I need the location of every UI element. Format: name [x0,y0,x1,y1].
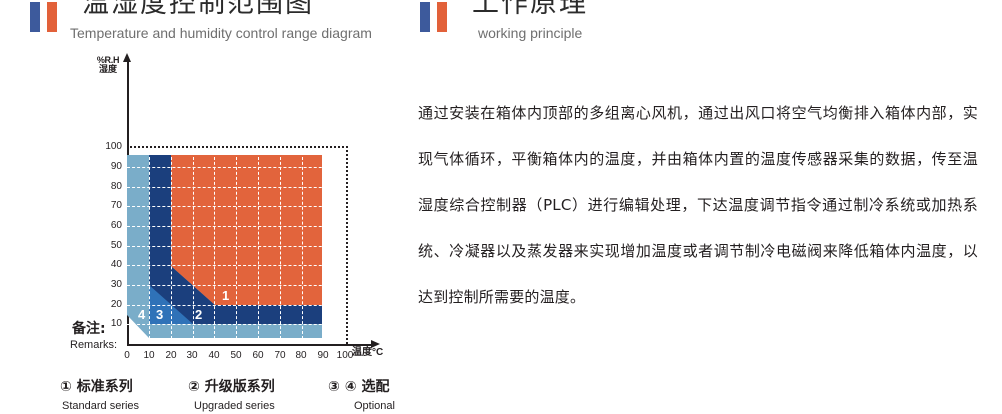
header-accent-bars-left [30,2,57,32]
zone-label-1: 1 [222,289,229,302]
working-principle-paragraph: 通过安装在箱体内顶部的多组离心风机，通过出风口将空气均衡排入箱体内部，实现气体循… [418,90,978,320]
legend-marker-2: ② [188,379,200,395]
x-tick-80: 80 [290,350,312,361]
x-axis-line [127,344,375,346]
x-tick-70: 70 [269,350,291,361]
zone-1-area [171,155,322,305]
legend-name-cn-3: 选配 [361,379,389,395]
accent-bar-blue-icon [420,2,430,32]
x-tick-40: 40 [203,350,225,361]
temperature-limit-dotted-line [346,146,348,344]
y-tick-100: 100 [96,141,122,152]
legend-item-label-en: Optional [354,400,395,412]
legend-item-label-cn: ③ ④ 选配 [328,376,395,396]
legend-item-optional: ③ ④ 选配 Optional [328,376,395,412]
y-tick-90: 90 [96,161,122,172]
legend-item-label-en: Standard series [62,400,139,412]
y-tick-30: 30 [96,279,122,290]
chart-plot-area: 1 2 3 4 [127,147,347,344]
legend-marker-3: ③ ④ [328,379,357,395]
page-root: 温湿度控制范围图 Temperature and humidity contro… [0,0,1002,414]
x-tick-10: 10 [138,350,160,361]
y-tick-20: 20 [96,299,122,310]
zone-label-3: 3 [156,308,163,321]
y-tick-40: 40 [96,259,122,270]
humidity-limit-dotted-line [127,146,348,148]
x-axis-caption: 温度°C [352,348,408,359]
y-tick-80: 80 [96,181,122,192]
zone-label-2: 2 [195,308,202,321]
legend-item-upgraded: ② 升级版系列 Upgraded series [188,376,275,412]
legend-name-cn-2: 升级版系列 [205,379,275,395]
x-tick-100: 100 [334,350,356,361]
accent-bar-blue-icon [30,2,40,32]
zone-label-4: 4 [138,308,145,321]
temperature-humidity-chart: %R.H 湿度 温度°C 100 90 80 70 60 50 40 30 20… [0,48,410,318]
x-tick-30: 30 [181,350,203,361]
x-tick-90: 90 [312,350,334,361]
legend-item-label-cn: ① 标准系列 [60,376,139,396]
header-accent-bars-right [420,2,447,32]
x-axis-arrow-icon [371,340,380,348]
y-tick-50: 50 [96,240,122,251]
y-tick-70: 70 [96,200,122,211]
left-title-cn: 温湿度控制范围图 [82,0,314,17]
right-title-en: working principle [478,26,582,40]
x-tick-60: 60 [247,350,269,361]
x-tick-20: 20 [160,350,182,361]
legend-item-label-en: Upgraded series [194,400,275,412]
remarks-title-en: Remarks: [70,339,117,351]
legend-item-standard: ① 标准系列 Standard series [60,376,139,412]
y-axis-caption: %R.H 湿度 [88,56,128,75]
y-axis-arrow-icon [123,53,131,62]
x-tick-0: 0 [116,350,138,361]
x-tick-50: 50 [225,350,247,361]
legend-item-label-cn: ② 升级版系列 [188,376,275,396]
remarks-title-cn: 备注: [72,318,106,338]
left-title-en: Temperature and humidity control range d… [70,26,372,40]
legend-name-cn-1: 标准系列 [77,379,133,395]
legend-marker-1: ① [60,379,72,395]
accent-bar-orange-icon [437,2,447,32]
accent-bar-orange-icon [47,2,57,32]
y-tick-60: 60 [96,220,122,231]
right-title-cn: 工作原理 [472,0,588,17]
y-axis-caption-line2: 湿度 [88,65,128,74]
